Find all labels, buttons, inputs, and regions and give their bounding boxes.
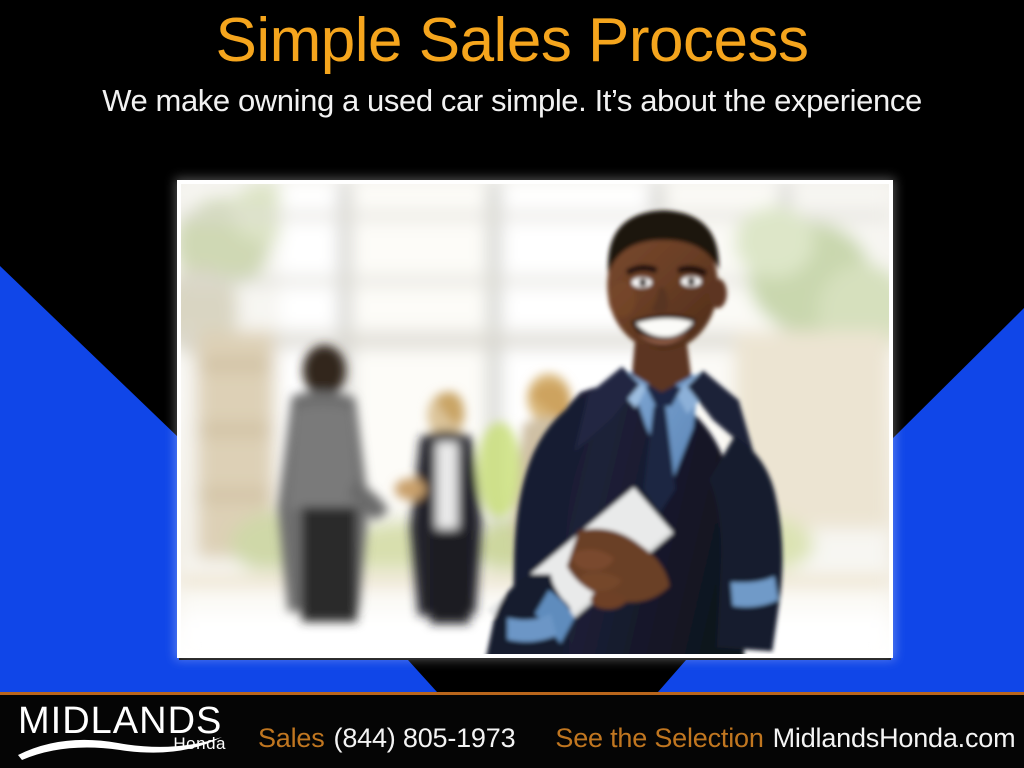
page-title: Simple Sales Process	[0, 6, 1024, 76]
footer-divider	[0, 692, 1024, 695]
header: Simple Sales Process We make owning a us…	[0, 0, 1024, 140]
footer-bar: MIDLANDS Honda Sales(844) 805-1973See th…	[0, 692, 1024, 768]
website-url[interactable]: MidlandsHonda.com	[773, 723, 1016, 753]
advertisement-banner: Simple Sales Process We make owning a us…	[0, 0, 1024, 768]
hero-photo-frame	[177, 180, 893, 658]
hero-photo	[181, 184, 889, 654]
footer-contacts: Sales(844) 805-1973See the SelectionMidl…	[258, 718, 1014, 758]
see-the-selection-label: See the Selection	[555, 723, 763, 753]
swoosh-icon	[16, 731, 234, 761]
page-subtitle: We make owning a used car simple. It’s a…	[0, 82, 1024, 120]
midlands-honda-logo[interactable]: MIDLANDS Honda	[16, 701, 234, 761]
sales-label: Sales	[258, 723, 325, 753]
sales-phone[interactable]: (844) 805-1973	[334, 723, 516, 753]
